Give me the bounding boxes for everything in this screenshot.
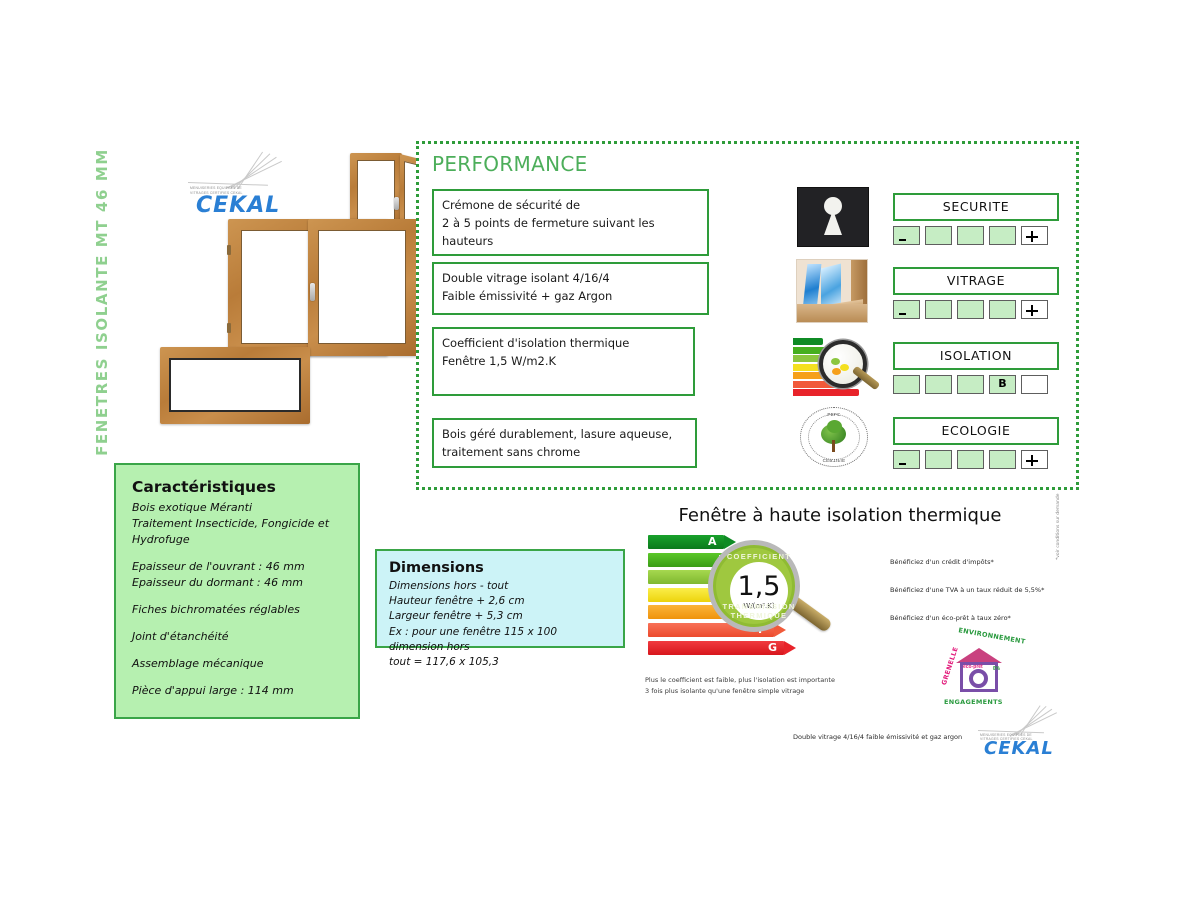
rating-scale [893,450,1059,469]
window-photo-open-sash [350,153,402,227]
rating-cell[interactable] [893,300,920,319]
spacer [132,672,342,683]
energy-band-g: G [648,641,808,655]
rating-label: SECURITE [893,193,1059,221]
performance-heading: PERFORMANCE [432,152,588,176]
spacer [132,618,342,629]
keyhole-icon [797,187,869,247]
perf-text: hauteurs [442,233,699,251]
perf-text: Crémone de sécurité de [442,197,699,215]
rating-cell[interactable] [893,226,920,245]
dimensions-line: Largeur fenêtre + 5,3 cm [389,609,611,624]
perf-text: Faible émissivité + gaz Argon [442,288,699,306]
rating-cell[interactable] [989,226,1016,245]
perf-text: Coefficient d'isolation thermique [442,335,685,353]
rating-cell[interactable] [957,300,984,319]
rating-row-ecologie: ECOLOGIE [893,417,1059,469]
spacer [132,548,342,559]
magnifier-arc-bottom: TRANSMISSION THERMIQUE [713,602,805,620]
dimensions-line: tout = 117,6 x 105,3 [389,655,611,670]
perf-text: Double vitrage isolant 4/16/4 [442,270,699,288]
cekal-logo: MENUISERIES EQUIPEES DE VITRAGES CERTIFI… [178,168,288,214]
magnifier-arc-top: COEFFICIENT [713,552,805,561]
glazing-icon [796,259,868,323]
rating-cell[interactable] [957,375,984,394]
dimensions-line: Ex : pour une fenêtre 115 x 100 dimensio… [389,625,611,655]
energy-note-line: 3 fois plus isolante qu'une fenêtre simp… [645,686,835,697]
characteristics-line: Epaisseur de l'ouvrant : 46 mm [132,559,342,575]
rating-scale [893,300,1059,319]
characteristics-line: Hydrofuge [132,532,342,548]
rating-scale [893,226,1059,245]
vertical-product-title: FENETRES ISOLANTE MT 46 MM [93,142,123,462]
cekal-wordmark: CEKAL [984,740,1054,758]
characteristics-title: Caractéristiques [132,478,342,496]
characteristics-card: Caractéristiques Bois exotique Méranti T… [114,463,360,719]
benefit-item: Bénéficiez d'un éco-prêt à taux zéro* [890,614,1055,622]
rating-cell[interactable] [1021,300,1048,319]
rating-row-vitrage: VITRAGE [893,267,1059,319]
spacer [132,645,342,656]
cekal-cert-line-1: MENUISERIES EQUIPEES DE [190,186,242,190]
rating-cell[interactable] [989,450,1016,469]
perf-text: Fenêtre 1,5 W/m2.K [442,353,685,371]
window-photo-right-sash [308,219,418,356]
rating-cell[interactable] [957,450,984,469]
rating-row-isolation: ISOLATION B [893,342,1059,394]
dimensions-title: Dimensions [389,560,611,576]
rating-cell[interactable] [1021,450,1048,469]
energy-note-line: Plus le coefficient est faible, plus l'i… [645,675,835,686]
rating-cell-b[interactable]: B [989,375,1016,394]
perf-text: Bois géré durablement, lasure aqueuse, [442,426,687,444]
characteristics-line: Traitement Insecticide, Fongicide et [132,516,342,532]
performance-box-glazing: Double vitrage isolant 4/16/4 Faible émi… [432,262,709,315]
perf-text: traitement sans chrome [442,444,687,462]
rating-label: ECOLOGIE [893,417,1059,445]
rating-label: VITRAGE [893,267,1059,295]
rating-cell[interactable] [893,450,920,469]
promo-title: Fenêtre à haute isolation thermique [630,505,1050,526]
cekal-logo-footer: MENUISERIES EQUIPEES DE VITRAGES CERTIFI… [970,718,1062,758]
rating-cell[interactable] [989,300,1016,319]
energy-note: Plus le coefficient est faible, plus l'i… [645,675,835,697]
pefc-tree-icon: PEFC CERTIFIE [797,406,871,468]
eco-pret-percent: 0% [993,666,1000,672]
rating-scale: B [893,375,1059,394]
dimensions-card: Dimensions Dimensions hors - tout Hauteu… [375,549,625,648]
performance-box-security: Crémone de sécurité de 2 à 5 points de f… [432,189,709,256]
eco-pret-house-icon: éco-prêt 0% [956,648,1002,692]
rating-cell[interactable] [1021,375,1048,394]
characteristics-line: Assemblage mécanique [132,656,342,672]
rating-cell[interactable] [925,226,952,245]
benefit-item: Bénéficiez d'un crédit d'impôts* [890,558,1055,566]
magnifier-rim: COEFFICIENT 1,5 W/(m².K) TRANSMISSION TH… [708,540,800,632]
performance-box-ecology: Bois géré durablement, lasure aqueuse, t… [432,418,697,468]
characteristics-line: Fiches bichromatées réglables [132,602,342,618]
rating-label: ISOLATION [893,342,1059,370]
dimensions-line: Hauteur fenêtre + 2,6 cm [389,594,611,609]
rating-cell[interactable] [893,375,920,394]
rating-cell[interactable] [1021,226,1048,245]
spacer [132,591,342,602]
window-photo-transom [160,347,310,424]
rating-cell[interactable] [925,300,952,319]
dimensions-line: Dimensions hors - tout [389,579,611,594]
footer-note: Double vitrage 4/16/4 faible émissivité … [793,733,962,741]
characteristics-line: Joint d'étanchéité [132,629,342,645]
characteristics-line: Bois exotique Méranti [132,500,342,516]
characteristics-line: Pièce d'appui large : 114 mm [132,683,342,699]
characteristics-line: Epaisseur du dormant : 46 mm [132,575,342,591]
perf-text: 2 à 5 points de fermeture suivant les [442,215,699,233]
datasheet-page: FENETRES ISOLANTE MT 46 MM MENUISERIES E… [0,0,1202,901]
energy-magnifier-icon [793,334,881,396]
grenelle-word-bottom: ENGAGEMENTS [944,698,1003,706]
cekal-wordmark: CEKAL [196,195,280,217]
coefficient-value: 1,5 [738,573,781,600]
rating-cell[interactable] [925,450,952,469]
benefit-item: Bénéficiez d'une TVA à un taux réduit de… [890,586,1055,594]
rating-row-securite: SECURITE [893,193,1059,245]
performance-box-insulation: Coefficient d'isolation thermique Fenêtr… [432,327,695,396]
grenelle-environnement-logo: GRENELLE ENVIRONNEMENT ENGAGEMENTS éco-p… [928,632,1032,714]
coefficient-magnifier: COEFFICIENT 1,5 W/(m².K) TRANSMISSION TH… [708,540,800,632]
legal-footnote-vertical: *voir conditions sur demande [1056,450,1061,560]
rating-cell[interactable] [957,226,984,245]
rating-cell[interactable] [925,375,952,394]
